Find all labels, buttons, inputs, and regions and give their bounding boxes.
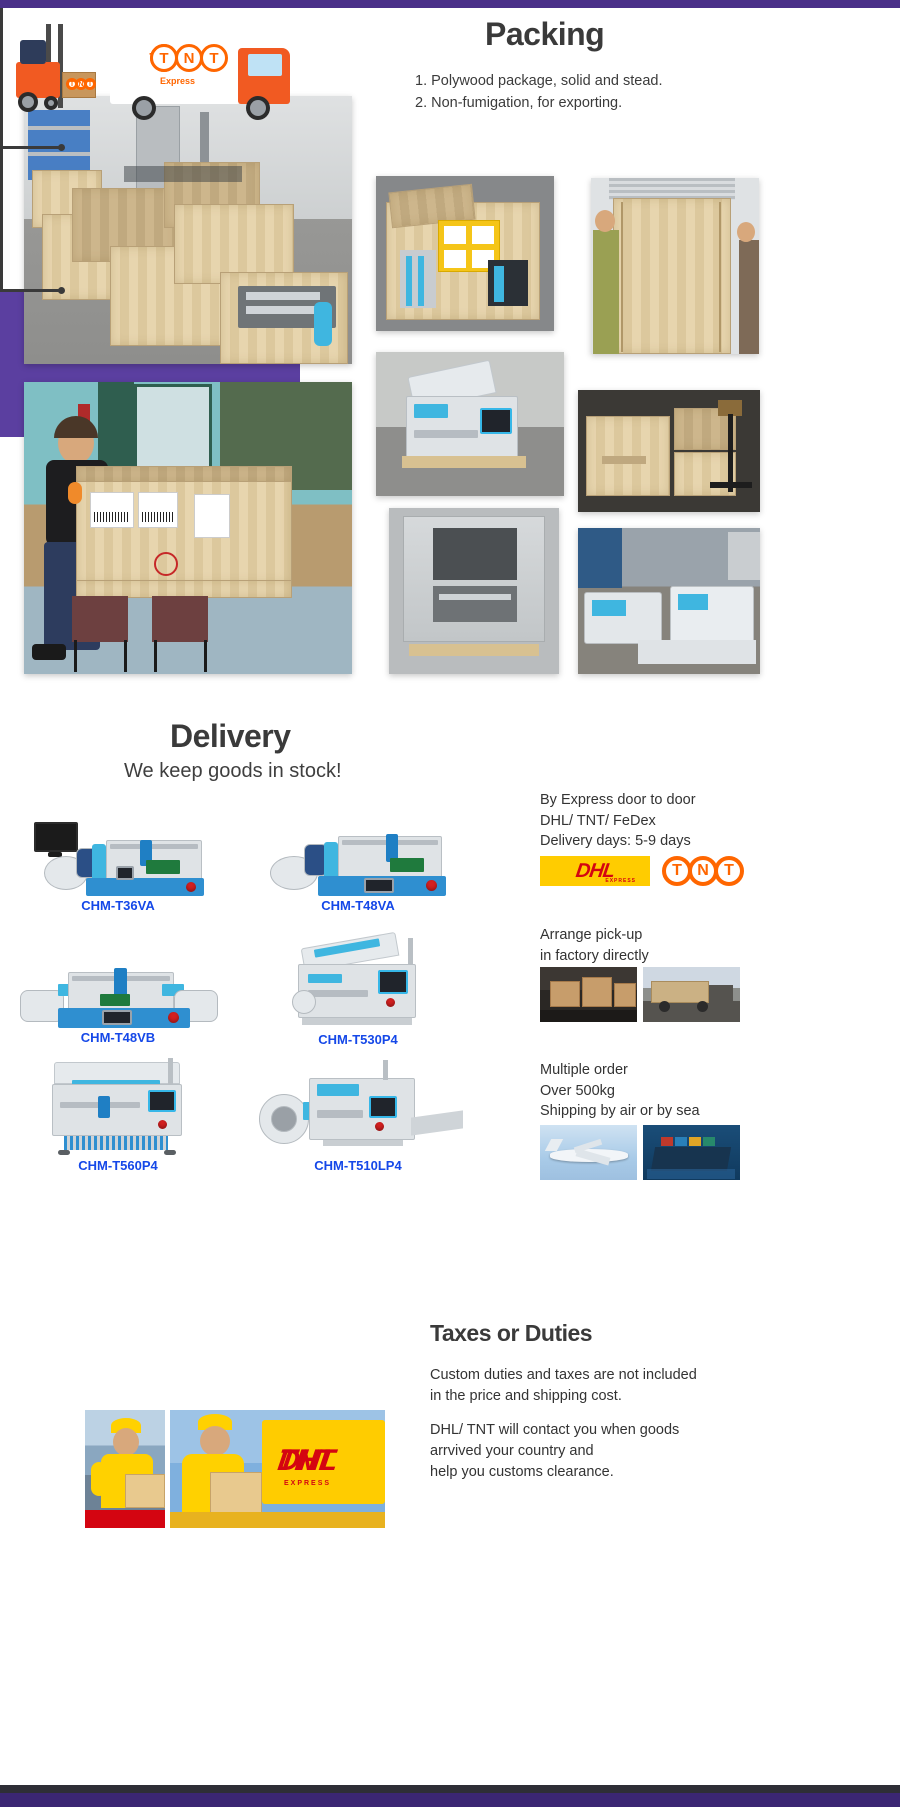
machine-image-chm-t48vb (18, 950, 218, 1028)
packing-section-title: Packing (485, 16, 604, 53)
packing-photo-factory-machines (578, 528, 760, 674)
machine-card-chm-t48va[interactable]: CHM-T48VA (258, 818, 458, 913)
dhl-logo-subtext: EXPRESS (605, 878, 636, 884)
machine-label-chm-t560p4: CHM-T560P4 (18, 1158, 218, 1173)
dhl-van-text: DHL (276, 1444, 339, 1478)
packing-photo-warehouse-crates (24, 96, 352, 364)
taxes-paragraph-1: Custom duties and taxes are not included… (430, 1365, 830, 1407)
packing-note-2: 2. Non-fumigation, for exporting. (415, 92, 662, 114)
shipping-option-bulk-text: Multiple order Over 500kg Shipping by ai… (540, 1060, 700, 1122)
packing-photo-woman-crate (24, 382, 352, 674)
machine-label-chm-t510lp4: CHM-T510LP4 (253, 1158, 463, 1173)
machine-card-chm-t36va[interactable]: CHM-T36VA (18, 818, 218, 913)
taxes-section-title: Taxes or Duties (430, 1320, 592, 1347)
pickup-photo-truck-at-factory (643, 967, 740, 1022)
bulk-photo-cargo-airplane (540, 1125, 637, 1180)
machine-card-chm-t530p4[interactable]: CHM-T530P4 (258, 938, 458, 1047)
machine-label-chm-t36va: CHM-T36VA (18, 898, 218, 913)
pickup-photo-loaded-boxes (540, 967, 637, 1022)
machine-label-chm-t530p4: CHM-T530P4 (258, 1032, 458, 1047)
machine-image-chm-t36va (18, 818, 218, 896)
machine-image-chm-t48va (258, 818, 458, 896)
machine-card-chm-t48vb[interactable]: CHM-T48VB (18, 950, 218, 1045)
packing-photo-stacked-crates (578, 390, 760, 512)
machine-label-chm-t48va: CHM-T48VA (258, 898, 458, 913)
delivery-subtitle: We keep goods in stock! (124, 760, 342, 783)
tnt-logo-letter-3: T (714, 856, 744, 886)
machine-image-chm-t530p4 (258, 938, 458, 1030)
machine-image-chm-t560p4 (18, 1058, 218, 1156)
packing-photo-open-crate (376, 176, 554, 331)
packing-note-1: 1. Polywood package, solid and stead. (415, 70, 662, 92)
dhl-logo: DHL EXPRESS (540, 856, 650, 886)
delivery-section-title: Delivery (170, 718, 291, 755)
bulk-photo-container-ship (643, 1125, 740, 1180)
packing-photo-wrapped-machine (389, 508, 559, 674)
shipping-option-pickup-text: Arrange pick-up in factory directly (540, 925, 649, 966)
machine-label-chm-t48vb: CHM-T48VB (18, 1030, 218, 1045)
tnt-logo: T N T (662, 856, 740, 886)
packing-photo-machine-pallet (376, 352, 564, 496)
machine-card-chm-t510lp4[interactable]: CHM-T510LP4 (253, 1058, 463, 1173)
machine-card-chm-t560p4[interactable]: CHM-T560P4 (18, 1058, 218, 1173)
dhl-van-express-label: EXPRESS (284, 1480, 331, 1487)
shipping-option-express-text: By Express door to door DHL/ TNT/ FeDex … (540, 790, 696, 852)
courier-photo-beside-van: TNT DHL EXPRESS (170, 1410, 385, 1528)
courier-photo-with-box (85, 1410, 165, 1528)
packing-photo-worker-tall-crate (591, 178, 759, 354)
machine-image-chm-t510lp4 (253, 1058, 463, 1156)
packing-notes: 1. Polywood package, solid and stead. 2.… (415, 70, 662, 114)
taxes-paragraph-2: DHL/ TNT will contact you when goods arr… (430, 1420, 830, 1483)
